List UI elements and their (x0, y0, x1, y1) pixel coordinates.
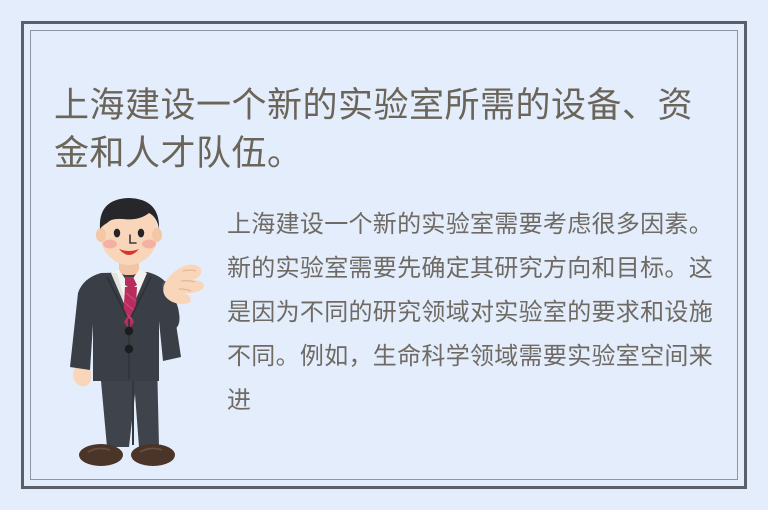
body-paragraph: 上海建设一个新的实验室需要考虑很多因素。 新的实验室需要先确定其研究方向和目标。… (227, 203, 727, 423)
page-title: 上海建设一个新的实验室所需的设备、资金和人才队伍。 (54, 82, 714, 178)
jacket-button-top (125, 327, 133, 335)
hand-down (73, 367, 91, 386)
ear-right (152, 228, 162, 242)
cheek-left (103, 240, 117, 249)
shoe-right (131, 444, 175, 466)
content-card-inner-border: 上海建设一个新的实验室所需的设备、资金和人才队伍。 (30, 30, 738, 480)
businessman-svg (55, 189, 215, 489)
eye-left (114, 229, 120, 238)
content-card: 上海建设一个新的实验室所需的设备、资金和人才队伍。 (21, 21, 747, 489)
eye-right (138, 229, 144, 238)
jacket-button-bottom (125, 345, 133, 353)
shoe-left (79, 444, 123, 466)
content-row: 上海建设一个新的实验室需要考虑很多因素。 新的实验室需要先确定其研究方向和目标。… (31, 181, 737, 479)
cheek-right (142, 240, 156, 249)
businessman-illustration (55, 189, 215, 489)
ear-left (96, 228, 106, 242)
